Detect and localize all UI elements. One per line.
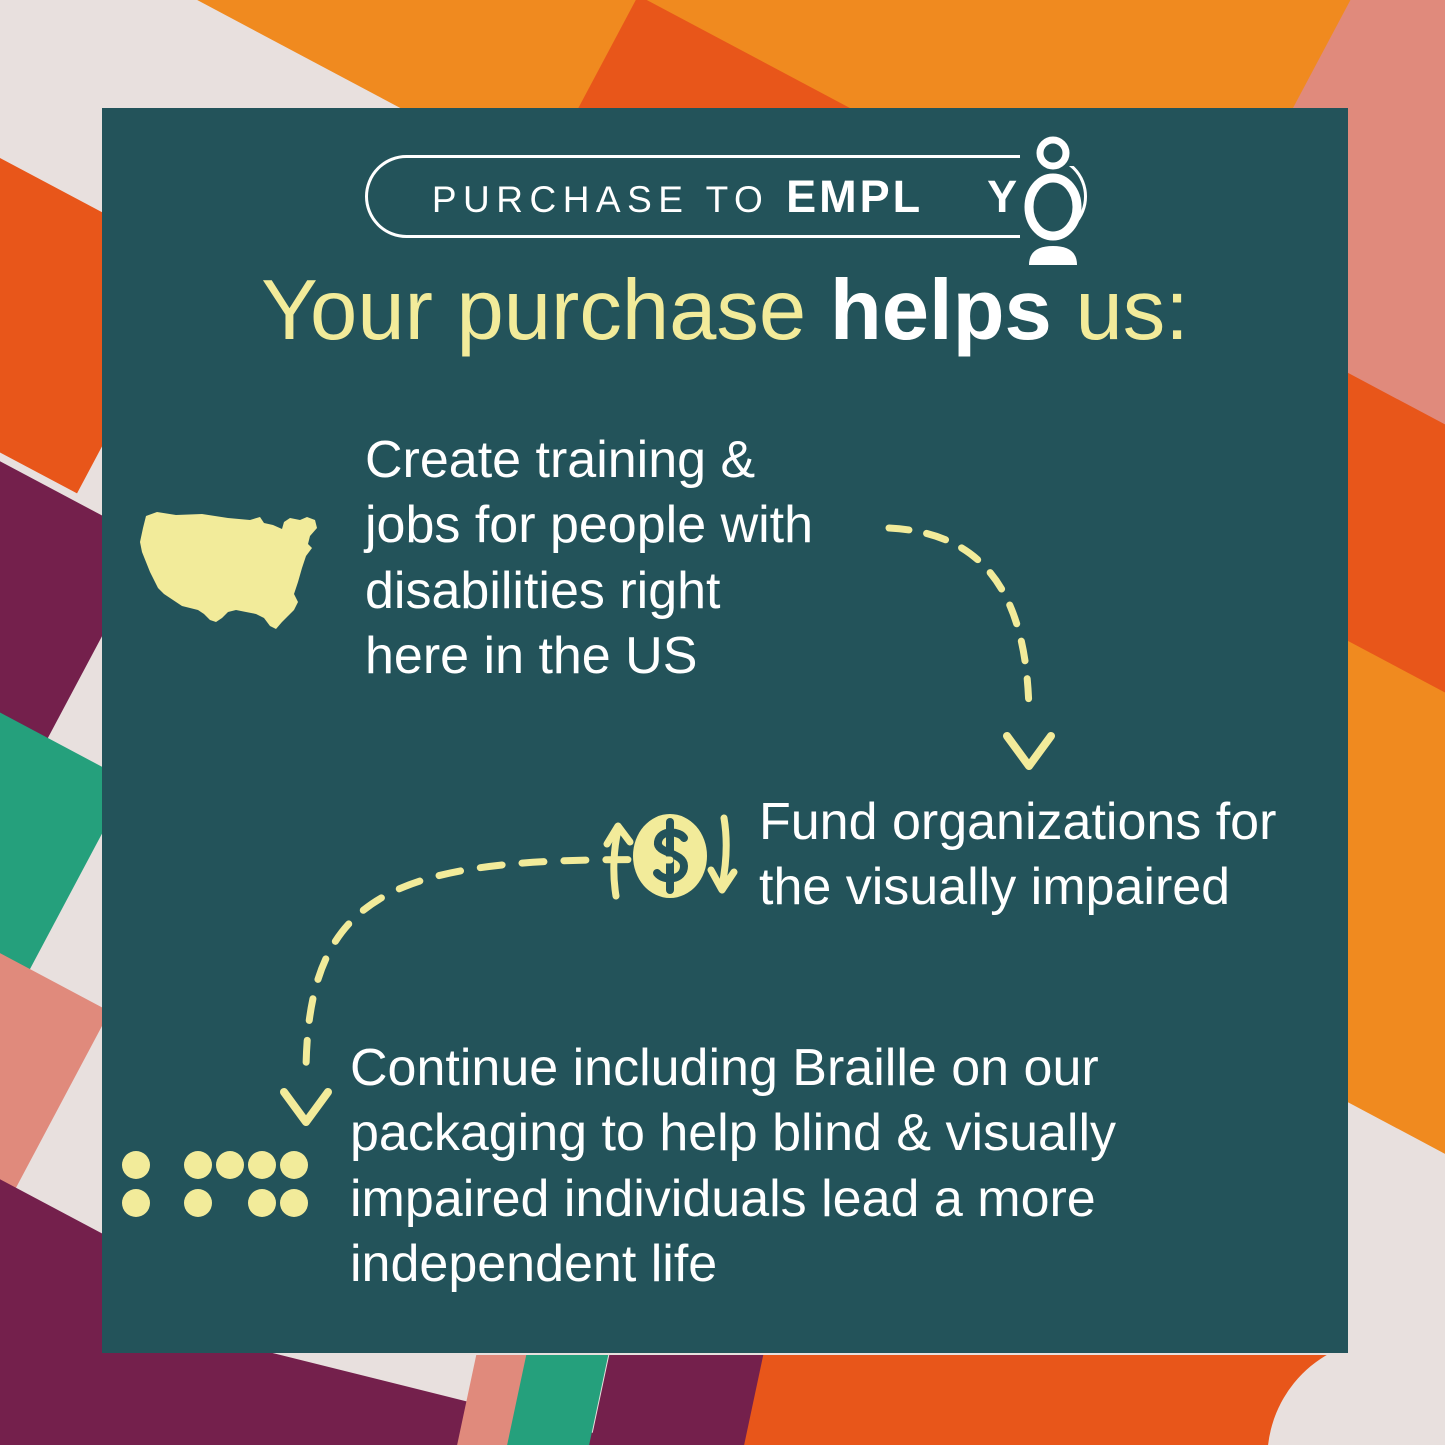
badge-label-heavy-post: Y	[987, 171, 1020, 222]
infographic-canvas: PURCHASE TO EMPLY Your purchase helps us…	[0, 0, 1445, 1445]
benefit-3-text: Continue including Braille on our packag…	[350, 1036, 1190, 1297]
badge-label-heavy-pre: EMPL	[786, 171, 923, 222]
benefit-1-text: Create training & jobs for people with d…	[365, 428, 885, 689]
title-part-3: us:	[1052, 263, 1189, 358]
main-card: PURCHASE TO EMPLY Your purchase helps us…	[102, 108, 1348, 1353]
person-o-icon	[1021, 132, 1085, 270]
purchase-to-employ-badge: PURCHASE TO EMPLY	[365, 155, 1087, 238]
badge-label: PURCHASE TO EMPLY	[432, 174, 1020, 219]
title-part-1: Your purchase	[261, 263, 830, 358]
braille-dots-icon	[120, 1143, 320, 1223]
dashed-arrow-down-right-icon	[877, 498, 1097, 788]
us-map-icon	[132, 498, 337, 638]
benefit-2-text: Fund organizations for the visually impa…	[759, 790, 1339, 921]
page-title: Your purchase helps us:	[102, 268, 1348, 353]
badge-inner: PURCHASE TO EMPLY	[368, 158, 1084, 235]
title-part-2: helps	[830, 263, 1052, 358]
badge-label-light: PURCHASE TO	[432, 179, 786, 220]
